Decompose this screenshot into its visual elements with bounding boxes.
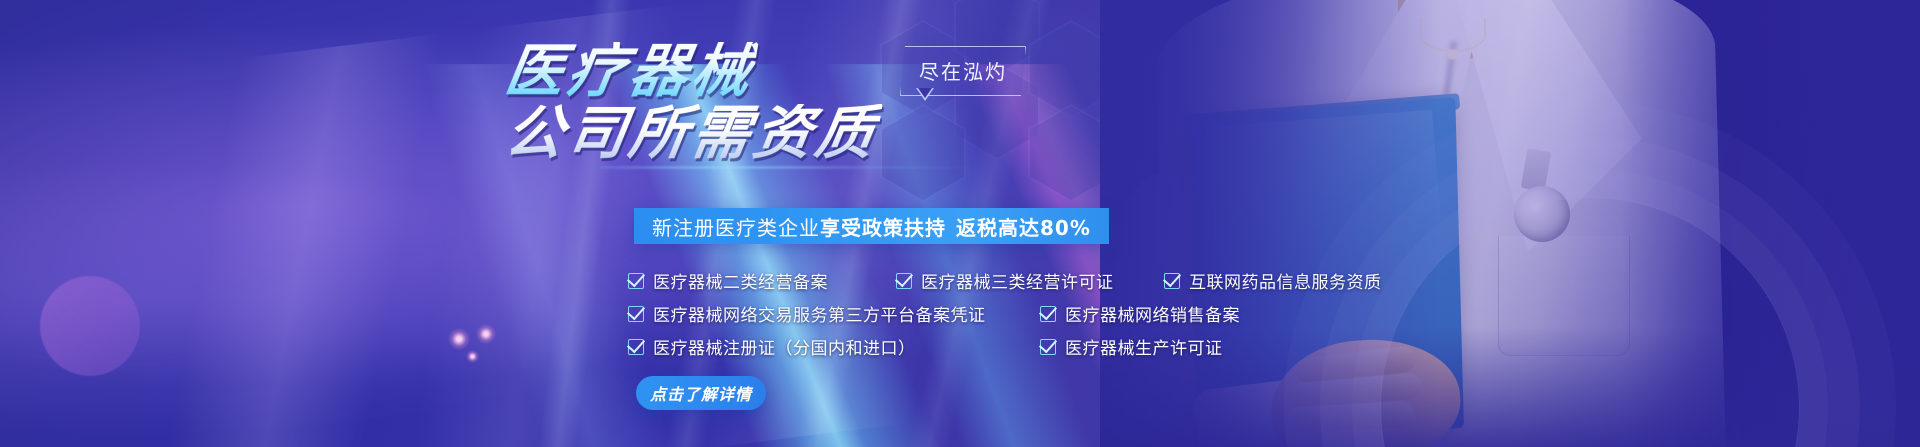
list-item[interactable]: 医疗器械二类经营备案 xyxy=(628,268,896,293)
ribbon-text-normal: 新注册医疗类企业 xyxy=(652,212,820,241)
list-item-label: 医疗器械注册证（分国内和进口） xyxy=(653,334,916,359)
headline-glow-underline xyxy=(600,166,980,169)
list-item[interactable]: 医疗器械注册证（分国内和进口） xyxy=(628,334,1040,359)
check-mark-icon xyxy=(1040,339,1056,355)
list-item-label: 医疗器械网络交易服务第三方平台备案凭证 xyxy=(653,301,986,326)
brand-tagline-badge-pointer xyxy=(916,88,934,101)
list-item-label: 医疗器械网络销售备案 xyxy=(1065,301,1240,326)
learn-more-button[interactable]: 点击了解详情 xyxy=(636,376,766,410)
list-item[interactable]: 医疗器械生产许可证 xyxy=(1040,334,1223,359)
checklist-row: 医疗器械二类经营备案 医疗器械三类经营许可证 互联网药品信息服务资质 xyxy=(628,268,1382,293)
checklist-row: 医疗器械注册证（分国内和进口） 医疗器械生产许可证 xyxy=(628,334,1382,359)
promo-ribbon: 新注册医疗类企业 享受政策扶持 返税高达80% xyxy=(634,208,1109,244)
banner-content: 医疗器械 公司所需资质 尽在泓灼 新注册医疗类企业 享受政策扶持 返税高达80%… xyxy=(0,0,1920,447)
check-mark-icon xyxy=(1164,273,1180,289)
list-item[interactable]: 医疗器械网络交易服务第三方平台备案凭证 xyxy=(628,301,1040,326)
list-item-label: 互联网药品信息服务资质 xyxy=(1189,268,1382,293)
headline-line-1: 医疗器械 xyxy=(501,42,758,100)
promo-banner: 医疗器械 公司所需资质 尽在泓灼 新注册医疗类企业 享受政策扶持 返税高达80%… xyxy=(0,0,1920,447)
headline-line-2: 公司所需资质 xyxy=(501,104,882,162)
list-item[interactable]: 医疗器械三类经营许可证 xyxy=(896,268,1164,293)
list-item-label: 医疗器械二类经营备案 xyxy=(653,268,828,293)
check-mark-icon xyxy=(628,306,644,322)
list-item[interactable]: 互联网药品信息服务资质 xyxy=(1164,268,1382,293)
qualification-checklist: 医疗器械二类经营备案 医疗器械三类经营许可证 互联网药品信息服务资质 医疗器械网… xyxy=(628,268,1382,367)
headline-line-1-wrap: 医疗器械 xyxy=(506,42,754,100)
ribbon-text-tail: 返税高达80% xyxy=(956,212,1091,241)
check-mark-icon xyxy=(628,273,644,289)
list-item-label: 医疗器械生产许可证 xyxy=(1065,334,1223,359)
checklist-row: 医疗器械网络交易服务第三方平台备案凭证 医疗器械网络销售备案 xyxy=(628,301,1382,326)
check-mark-icon xyxy=(1040,306,1056,322)
check-mark-icon xyxy=(628,339,644,355)
ribbon-text-bold: 享受政策扶持 xyxy=(820,212,946,241)
list-item-label: 医疗器械三类经营许可证 xyxy=(921,268,1114,293)
check-mark-icon xyxy=(896,273,912,289)
list-item[interactable]: 医疗器械网络销售备案 xyxy=(1040,301,1240,326)
